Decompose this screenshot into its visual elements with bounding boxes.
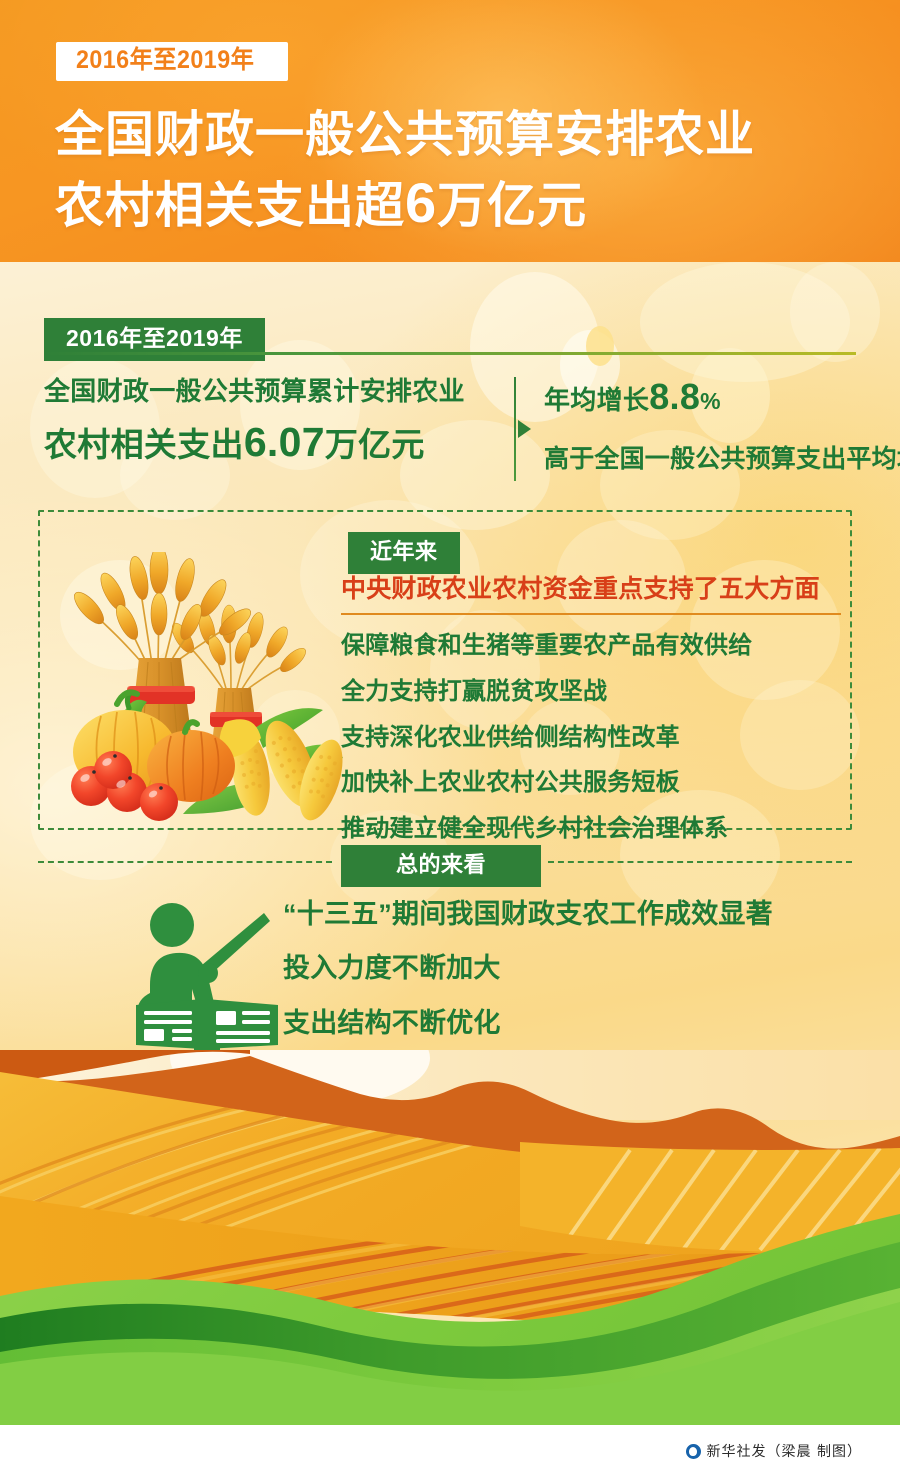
page-title: 全国财政一般公共预算安排农业 农村相关支出超6万亿元	[55, 104, 855, 238]
stat-total-spending: 全国财政一般公共预算累计安排农业 农村相关支出6.07万亿元	[44, 375, 500, 469]
stats-divider-rule	[44, 352, 856, 355]
stat-growth-prefix: 年均增长	[544, 385, 649, 415]
header-period-label: 2016年至2019年	[76, 48, 254, 73]
aspects-headline: 中央财政农业农村资金重点支持了五大方面	[341, 574, 841, 615]
aspect-item-3: 支持深化农业供给侧结构性改革	[341, 723, 841, 753]
stat-total-line1: 全国财政一般公共预算累计安排农业	[44, 375, 500, 408]
page-title-line2-b: 万亿元	[437, 179, 587, 233]
stats-section: 全国财政一般公共预算累计安排农业 农村相关支出6.07万亿元 年均增长8.8% …	[44, 375, 856, 485]
infographic-poster: 2016年至2019年 全国财政一般公共预算安排农业 农村相关支出超6万亿元 2…	[0, 0, 900, 1473]
aspect-item-2: 全力支持打赢脱贫攻坚战	[341, 677, 841, 707]
stat-total-line2: 农村相关支出6.07万亿元	[44, 416, 500, 469]
stat-growth-percent-sign: %	[700, 388, 721, 414]
corn-cobs	[219, 714, 345, 826]
aspect-item-1: 保障粮食和生猪等重要农产品有效供给	[341, 631, 841, 661]
stat-total-unit: 万亿元	[325, 426, 425, 463]
aspect-item-4: 加快补上农业农村公共服务短板	[341, 768, 841, 798]
xinhua-logo-icon	[686, 1444, 701, 1459]
credit-block: 新华社发（梁晨 制图）	[686, 1441, 862, 1461]
page-title-line2-a: 农村相关支出超	[55, 179, 405, 233]
stat-growth-rate: 年均增长8.8% 高于全国一般公共预算支出平均增幅	[544, 375, 900, 474]
stats-vertical-divider	[514, 377, 516, 481]
page-title-highlight-number: 6	[405, 171, 437, 234]
stats-arrow-icon	[518, 420, 531, 438]
stat-growth-line1: 年均增长8.8%	[544, 375, 900, 418]
aspect-item-5: 推动建立健全现代乡村社会治理体系	[341, 814, 841, 844]
harvest-illustration	[55, 552, 345, 830]
stat-total-prefix: 农村相关支出	[44, 426, 244, 463]
stat-growth-line2: 高于全国一般公共预算支出平均增幅	[544, 444, 900, 474]
summary-dash-right	[548, 861, 852, 863]
summary-overall-badge: 总的来看	[341, 845, 541, 887]
aspects-recent-badge: 近年来	[348, 532, 460, 574]
open-book	[136, 997, 278, 1053]
summary-line-2: 投入力度不断加大	[283, 952, 843, 984]
page-title-line2: 农村相关支出超6万亿元	[55, 167, 855, 239]
aspects-list-section: 中央财政农业农村资金重点支持了五大方面 保障粮食和生猪等重要农产品有效供给 全力…	[341, 574, 841, 844]
farmland-illustration	[0, 1050, 900, 1425]
credit-text: 新华社发（梁晨 制图）	[707, 1441, 862, 1461]
header-period-badge: 2016年至2019年	[56, 42, 288, 81]
header-banner: 2016年至2019年 全国财政一般公共预算安排农业 农村相关支出超6万亿元	[0, 0, 900, 262]
page-title-line1: 全国财政一般公共预算安排农业	[55, 104, 855, 167]
teacher-pointer-icon	[132, 893, 282, 1053]
summary-line-1: “十三五”期间我国财政支农工作成效显著	[283, 898, 843, 930]
summary-line-3: 支出结构不断优化	[283, 1007, 843, 1039]
summary-dash-left	[38, 861, 332, 863]
stat-total-value: 6.07	[244, 419, 325, 465]
stat-growth-value: 8.8	[649, 376, 700, 417]
